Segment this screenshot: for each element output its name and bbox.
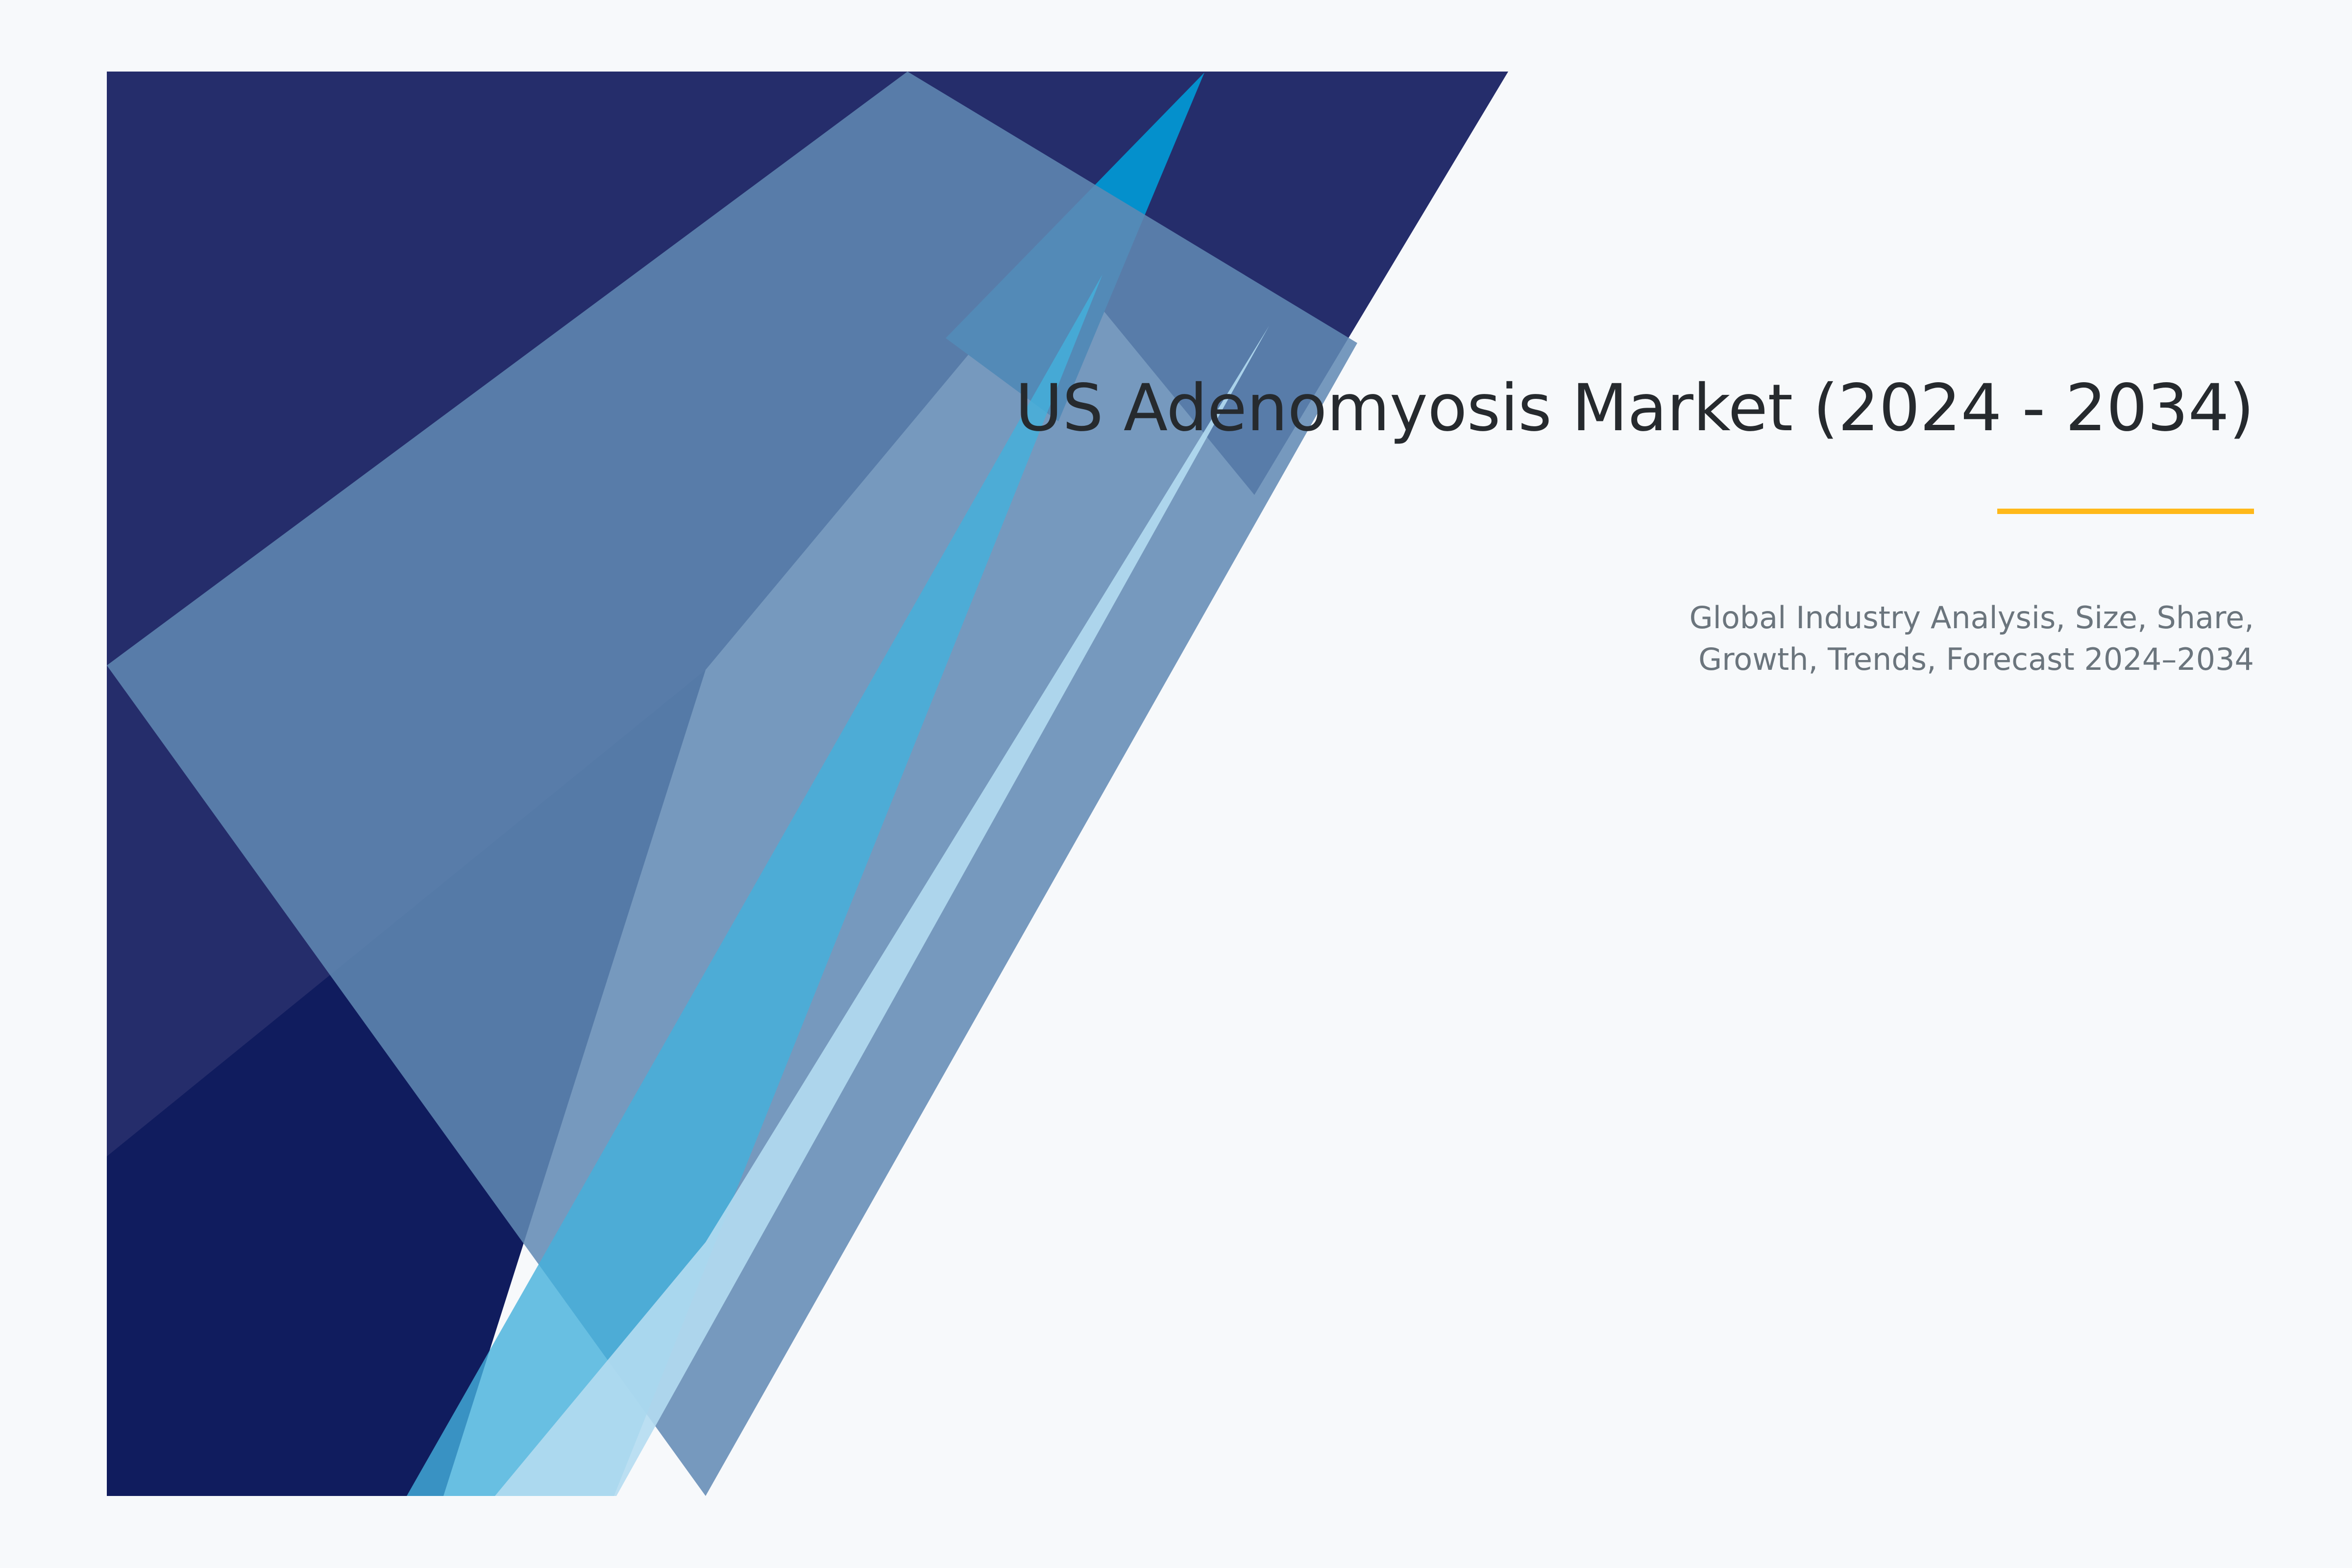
cover-page: US Adenomyosis Market (2024 - 2034) Glob… [0,0,2352,1568]
page-subtitle: Global Industry Analysis, Size, Share, G… [1622,597,2254,681]
accent-rule [1997,509,2254,514]
abstract-geometric-artwork [0,0,2352,1568]
cover-text-block: US Adenomyosis Market (2024 - 2034) Glob… [784,372,2254,681]
page-title: US Adenomyosis Market (2024 - 2034) [784,372,2254,445]
